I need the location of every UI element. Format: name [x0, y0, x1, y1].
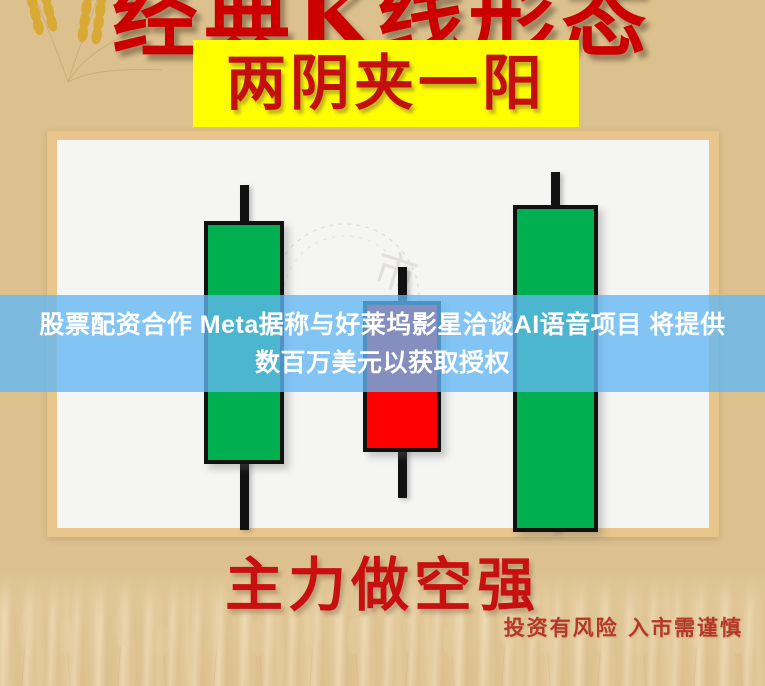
poster-caption: 主力做空强	[0, 538, 765, 622]
wheat-field-texture	[0, 576, 765, 686]
poster-image: 经典K线形态 两阴夹一阳 市	[0, 0, 765, 686]
risk-disclaimer: 投资有风险 入市需谨慎	[504, 612, 743, 642]
news-overlay-line-2: 数百万美元以获取授权	[255, 344, 510, 382]
banner-label: 两阴夹一阳	[226, 54, 546, 114]
news-overlay-line-1: 股票配资合作 Meta据称与好莱坞影星洽谈AI语音项目 将提供	[39, 306, 725, 344]
wheat-heads-icon	[0, 600, 765, 686]
news-overlay-band: 股票配资合作 Meta据称与好莱坞影星洽谈AI语音项目 将提供 数百万美元以获取…	[0, 295, 765, 392]
svg-text:市: 市	[368, 243, 423, 303]
wheat-sprig-icon	[6, 0, 181, 116]
yellow-banner: 两阴夹一阳	[193, 40, 579, 127]
